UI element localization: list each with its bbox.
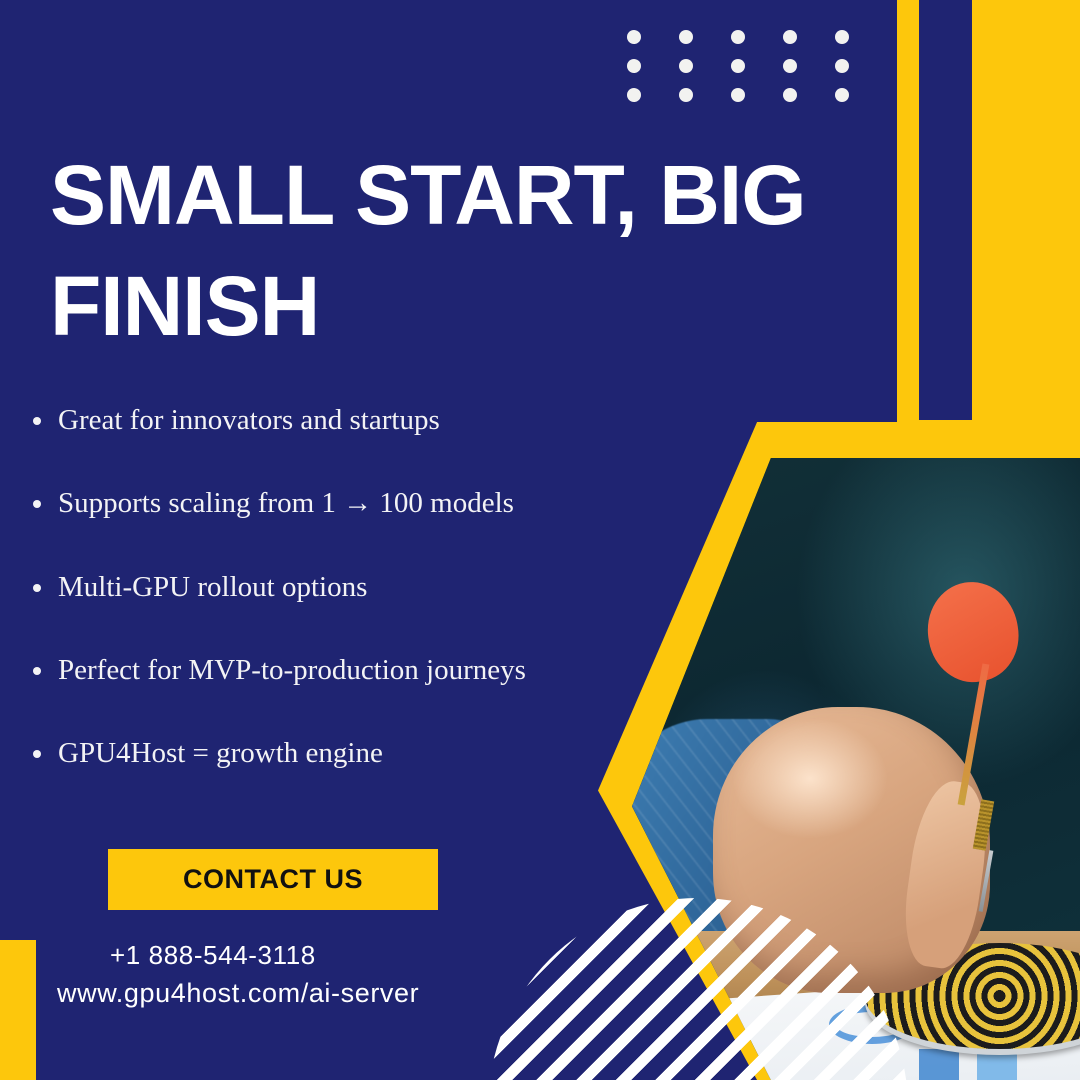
list-item: GPU4Host = growth engine — [22, 737, 642, 770]
grid-dot-icon — [731, 59, 745, 73]
grid-dot-icon — [835, 59, 849, 73]
grid-dot-icon — [731, 88, 745, 102]
grid-dot-icon — [783, 59, 797, 73]
dot-grid-pattern — [627, 30, 887, 117]
grid-dot-icon — [679, 88, 693, 102]
list-item: Multi-GPU rollout options — [22, 571, 642, 604]
poster-canvas: SMALL START, BIG FINISH Great for innova… — [0, 0, 1080, 1080]
grid-dot-icon — [835, 88, 849, 102]
grid-dot-icon — [835, 30, 849, 44]
grid-dot-icon — [679, 59, 693, 73]
photo-chart-bar — [919, 1049, 959, 1080]
contact-phone[interactable]: +1 888-544-3118 — [110, 940, 316, 971]
grid-dot-icon — [627, 88, 641, 102]
list-item: Supports scaling from 1 → 100 models — [22, 487, 642, 520]
grid-dot-icon — [783, 30, 797, 44]
grid-dot-icon — [627, 59, 641, 73]
feature-list: Great for innovators and startups Suppor… — [22, 404, 642, 771]
list-item: Perfect for MVP-to-production journeys — [22, 654, 642, 687]
grid-dot-icon — [783, 88, 797, 102]
page-title: SMALL START, BIG FINISH — [50, 140, 840, 362]
contact-us-button[interactable]: CONTACT US — [108, 849, 438, 910]
grid-dot-icon — [627, 30, 641, 44]
wide-yellow-band — [972, 0, 1080, 424]
yellow-corner-block — [0, 940, 36, 1080]
list-item: Great for innovators and startups — [22, 404, 642, 437]
thin-yellow-stripe — [897, 0, 919, 424]
grid-dot-icon — [731, 30, 745, 44]
grid-dot-icon — [679, 30, 693, 44]
contact-website[interactable]: www.gpu4host.com/ai-server — [57, 978, 419, 1009]
